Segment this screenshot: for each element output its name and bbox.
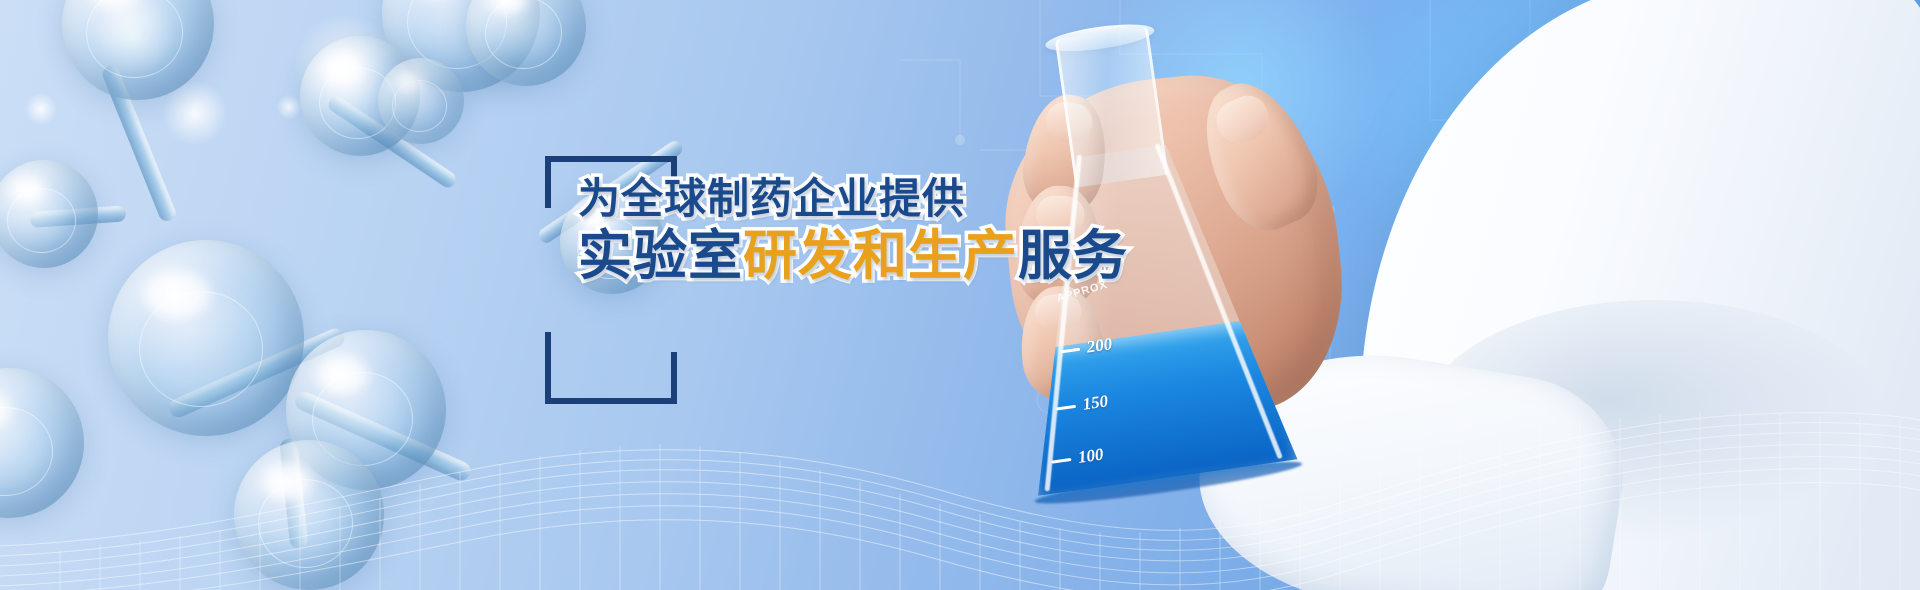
- molecule-sphere: [378, 58, 464, 144]
- molecule-sphere: [62, 0, 214, 100]
- headline-block: 为全球制药企业提供 实验室研发和生产服务: [578, 176, 1048, 286]
- headline-line-2-part-2: 研发和生产: [743, 227, 1018, 285]
- bracket-bottom-edge: [545, 398, 677, 404]
- bracket-left-top-stub: [545, 156, 551, 208]
- molecule-sphere: [0, 160, 98, 268]
- headline-line-1: 为全球制药企业提供: [578, 176, 1048, 221]
- bracket-right-bottom-stub: [671, 352, 677, 404]
- wireframe-mesh-wave: [0, 350, 1920, 590]
- headline-line-1-text: 为全球制药企业提供: [578, 176, 965, 221]
- headline-line-2-part-1: 实验室: [578, 227, 743, 285]
- bracket-top-edge: [545, 156, 677, 162]
- bracket-left-bottom-stub: [545, 332, 551, 404]
- headline-line-2-part-3: 服务: [1018, 227, 1128, 285]
- hero-banner: 250 200 150 100 APPROX: [0, 0, 1920, 590]
- headline-line-2: 实验室研发和生产服务: [578, 227, 1048, 285]
